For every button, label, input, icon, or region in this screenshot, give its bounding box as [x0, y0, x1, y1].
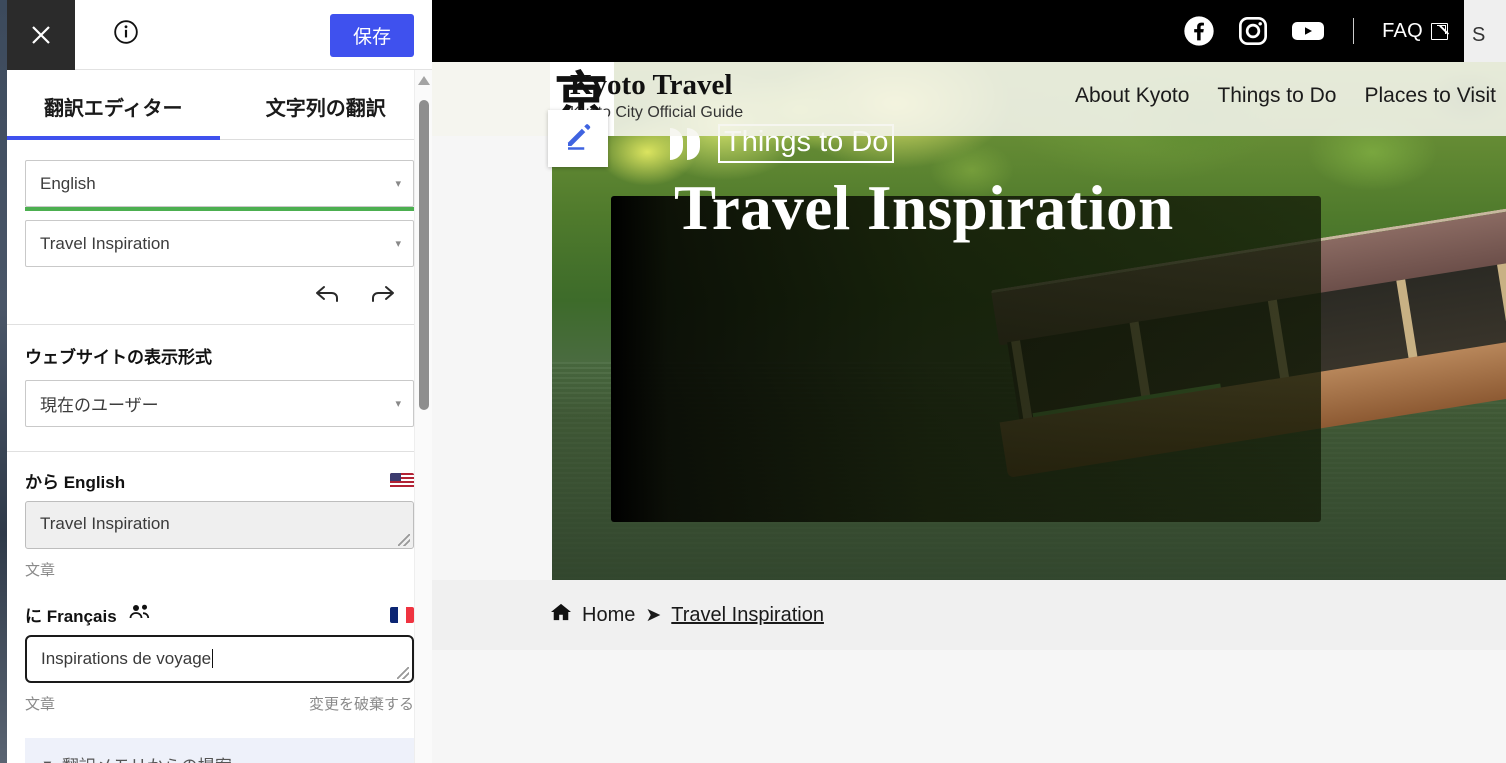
display-format-title: ウェブサイトの表示形式 [7, 325, 432, 380]
edit-pencil-button[interactable] [548, 110, 608, 167]
target-language-row: に Français [7, 580, 432, 635]
selectors-section: English ▾ Travel Inspiration ▾ [7, 140, 432, 267]
breadcrumb-band: Home ➤ Travel Inspiration [432, 580, 1506, 650]
target-text-area[interactable]: Inspirations de voyage [25, 635, 414, 683]
display-format-section: 現在のユーザー ▾ [7, 380, 432, 427]
redo-icon[interactable] [368, 283, 396, 310]
hero-content: Things to Do Travel Inspiration [670, 124, 1174, 241]
target-language-label: に Français [25, 602, 117, 627]
translation-panel: 保存 翻訳エディター 文字列の翻訳 English ▾ Travel Inspi… [7, 0, 432, 763]
close-icon [29, 23, 53, 47]
external-link-icon [1431, 23, 1448, 40]
fr-flag-icon [390, 607, 414, 623]
instagram-icon[interactable] [1237, 15, 1269, 47]
nav-item-places-to-visit[interactable]: Places to Visit [1364, 84, 1496, 108]
history-controls [7, 267, 432, 324]
panel-tabs: 翻訳エディター 文字列の翻訳 [7, 70, 432, 140]
string-select-value: Travel Inspiration [40, 234, 170, 254]
site-nav: About Kyoto Things to Do Places to Visit [1075, 84, 1496, 108]
people-icon[interactable] [129, 603, 151, 626]
source-language-label: から English [25, 468, 125, 493]
site-utility-bar: FAQ [432, 0, 1464, 62]
string-select[interactable]: Travel Inspiration ▾ [25, 220, 414, 267]
breadcrumb-home[interactable]: Home [582, 604, 635, 627]
tab-string-translation[interactable]: 文字列の翻訳 [220, 70, 433, 139]
right-rail-text: S [1472, 24, 1485, 46]
facebook-icon[interactable] [1183, 15, 1215, 47]
resize-grip-icon[interactable] [398, 534, 410, 546]
source-meta-label: 文章 [25, 559, 55, 580]
language-select[interactable]: English ▾ [25, 160, 414, 207]
display-user-select-value: 現在のユーザー [40, 391, 159, 416]
youtube-icon[interactable] [1291, 17, 1325, 45]
resize-grip-icon[interactable] [397, 667, 409, 679]
screen: FAQ S [0, 0, 1506, 763]
close-button[interactable] [7, 0, 75, 70]
hero-banner: Things to Do Travel Inspiration [552, 62, 1506, 580]
chevron-down-icon: ▾ [395, 237, 401, 250]
faq-link[interactable]: FAQ [1382, 20, 1448, 43]
chevron-down-icon: ▾ [395, 177, 401, 190]
discard-changes-link[interactable]: 変更を破棄する [309, 693, 414, 714]
source-text: Travel Inspiration [40, 514, 170, 533]
scroll-up-arrow-icon[interactable] [418, 76, 430, 85]
translation-memory-suggestions[interactable]: ▼ 翻訳メモリからの提案 [25, 738, 414, 763]
tab-translation-editor[interactable]: 翻訳エディター [7, 70, 220, 139]
social-links [1183, 15, 1325, 47]
us-flag-icon [390, 473, 414, 489]
panel-scrollbar[interactable] [414, 70, 432, 763]
info-button[interactable] [113, 19, 139, 50]
panel-toolbar: 保存 [7, 0, 432, 70]
breadcrumb-current[interactable]: Travel Inspiration [671, 604, 824, 627]
hero-overlay [611, 196, 1321, 522]
target-meta-row: 文章 変更を破棄する [7, 683, 432, 714]
text-cursor [212, 649, 213, 668]
nav-item-things-to-do[interactable]: Things to Do [1217, 84, 1336, 108]
source-text-area[interactable]: Travel Inspiration [25, 501, 414, 549]
suggestions-label: 翻訳メモリからの提案 [62, 752, 232, 763]
scrollbar-thumb[interactable] [419, 100, 429, 410]
language-select-value: English [40, 174, 96, 194]
pencil-icon [563, 121, 593, 156]
display-user-select[interactable]: 現在のユーザー ▾ [25, 380, 414, 427]
home-icon[interactable] [550, 602, 572, 628]
nav-item-about-kyoto[interactable]: About Kyoto [1075, 84, 1189, 108]
triangle-down-icon: ▼ [41, 757, 54, 763]
info-icon [113, 32, 139, 49]
chevron-down-icon: ▾ [395, 397, 401, 410]
breadcrumb: Home ➤ Travel Inspiration [550, 602, 824, 628]
source-meta-row: 文章 [7, 549, 432, 580]
undo-icon[interactable] [314, 283, 342, 310]
source-language-row: から English [7, 452, 432, 501]
brand-title: Kyoto Travel [570, 70, 743, 102]
hero-title: Travel Inspiration [674, 175, 1174, 241]
target-meta-label: 文章 [25, 693, 55, 714]
divider [1353, 18, 1354, 44]
breadcrumb-separator-icon: ➤ [645, 604, 661, 627]
target-text: Inspirations de voyage [41, 649, 211, 668]
faq-label: FAQ [1382, 20, 1423, 43]
save-button[interactable]: 保存 [330, 14, 414, 57]
